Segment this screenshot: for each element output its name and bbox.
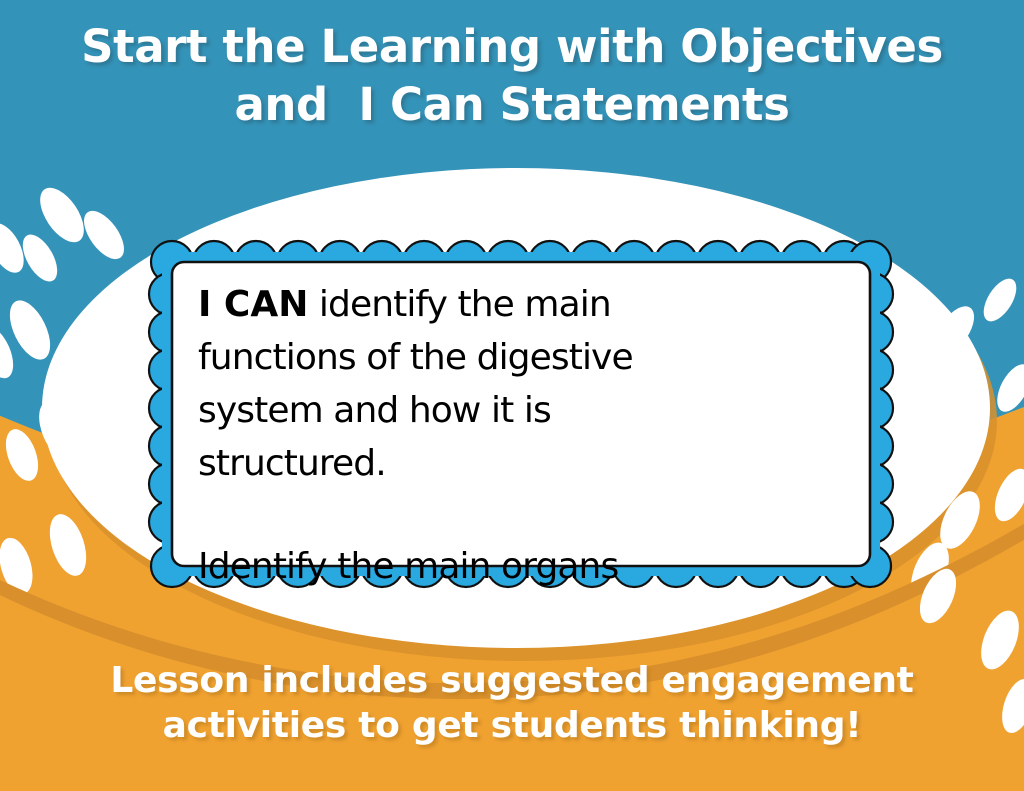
slide-canvas: Start the Learning with Objectives and I… — [0, 0, 1024, 791]
i-can-statement-card: I CAN identify the main functions of the… — [146, 238, 896, 590]
card-line-1: I CAN identify the main — [198, 278, 838, 331]
card-line-5: Identify the main organs — [198, 540, 838, 593]
i-can-label: I CAN — [198, 284, 308, 325]
card-line-1-rest: identify the main — [308, 284, 610, 325]
card-body-text: I CAN identify the main functions of the… — [198, 278, 838, 593]
card-line-4: structured. — [198, 437, 838, 490]
card-line-3: system and how it is — [198, 384, 838, 437]
card-line-2: functions of the digestive — [198, 331, 838, 384]
card-paragraph-gap — [198, 490, 838, 540]
